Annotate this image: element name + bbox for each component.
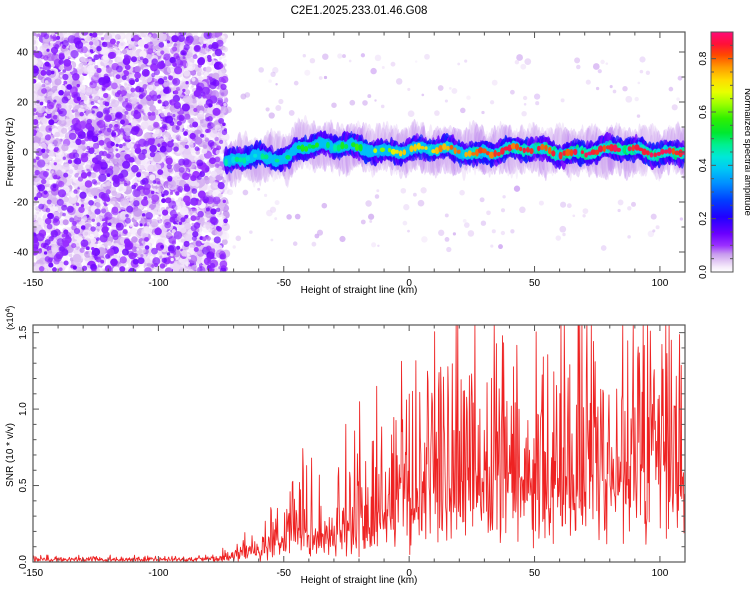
snr-y-exponent-label: (x104) [5, 306, 15, 330]
snr-y-tick-label: 1.5 [18, 325, 29, 339]
snr-y-axis-label: SNR (10 * v/v) [5, 423, 16, 487]
spectrogram-y-tick-label: 20 [17, 98, 29, 109]
colorbar-tick-label: 0.8 [698, 51, 709, 65]
spectrogram-x-tick-label: -50 [277, 278, 292, 289]
spectrogram-x-tick-label: -150 [23, 278, 43, 289]
snr-x-tick-label: 50 [529, 568, 541, 579]
spectrogram-noise-region [29, 28, 230, 276]
colorbar-label: Normalized spectral amplitude [742, 88, 750, 216]
spectrogram-x-axis-label: Height of straight line (km) [301, 285, 418, 296]
spectrogram-x-tick-label: 50 [529, 278, 541, 289]
colorbar-gradient [711, 32, 733, 272]
spectrogram-y-axis-label: Frequency (Hz) [5, 118, 16, 187]
spectrogram-x-tick-label: -100 [148, 278, 168, 289]
snr-y-tick-label: 0.5 [18, 478, 29, 492]
colorbar-tick-label: 0.2 [698, 211, 709, 225]
spectrogram-y-tick-label: 0 [22, 148, 28, 159]
spectrogram-y-tick-label: -20 [14, 198, 29, 209]
snr-y-tick-label: 1.0 [18, 402, 29, 416]
colorbar-tick-label: 0.0 [698, 265, 709, 279]
spectrogram-y-tick-label: -40 [14, 248, 29, 259]
snr-x-axis-label: Height of straight line (km) [301, 575, 418, 586]
snr-x-tick-label: -50 [277, 568, 292, 579]
snr-x-tick-label: -100 [148, 568, 168, 579]
colorbar-tick-label: 0.4 [698, 158, 709, 172]
figure-canvas: C2E1.2025.233.01.46.G08 -150-100-5005010… [0, 0, 750, 600]
snr-x-tick-label: 100 [652, 568, 669, 579]
snr-y-tick-label: 0.0 [18, 555, 29, 569]
spectrogram-y-tick-label: 40 [17, 48, 29, 59]
colorbar-tick-label: 0.6 [698, 105, 709, 119]
page-title: C2E1.2025.233.01.46.G08 [291, 5, 428, 17]
spectrogram-x-tick-label: 100 [652, 278, 669, 289]
